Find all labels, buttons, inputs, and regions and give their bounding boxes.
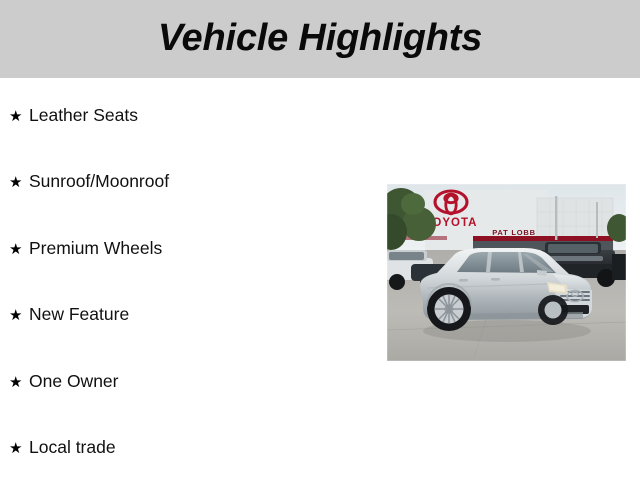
slide-canvas: Vehicle Highlights ★ Leather Seats ★ Sun… [0,0,640,480]
feature-label: One Owner [29,373,118,391]
vehicle-photo: TOYOTA PAT LOBB [387,184,626,361]
star-bullet-icon: ★ [9,308,29,323]
list-item: ★ New Feature [9,304,129,326]
star-bullet-icon: ★ [9,375,29,390]
list-item: ★ One Owner [9,371,118,393]
list-item: ★ Premium Wheels [9,238,162,260]
feature-label: New Feature [29,306,129,324]
page-title: Vehicle Highlights [158,19,482,59]
feature-label: Leather Seats [29,107,138,125]
list-item: ★ Sunroof/Moonroof [9,171,169,193]
feature-label: Local trade [29,439,116,457]
vehicle-photo-image: TOYOTA PAT LOBB [387,184,626,361]
slide-header-bar: Vehicle Highlights [0,0,640,78]
list-item: ★ Leather Seats [9,105,138,127]
dealership-sign-text: PAT LOBB [492,228,536,237]
star-bullet-icon: ★ [9,109,29,124]
list-item: ★ Local trade [9,437,116,459]
feature-label: Sunroof/Moonroof [29,173,169,191]
feature-label: Premium Wheels [29,240,162,258]
star-bullet-icon: ★ [9,441,29,456]
star-bullet-icon: ★ [9,175,29,190]
star-bullet-icon: ★ [9,242,29,257]
